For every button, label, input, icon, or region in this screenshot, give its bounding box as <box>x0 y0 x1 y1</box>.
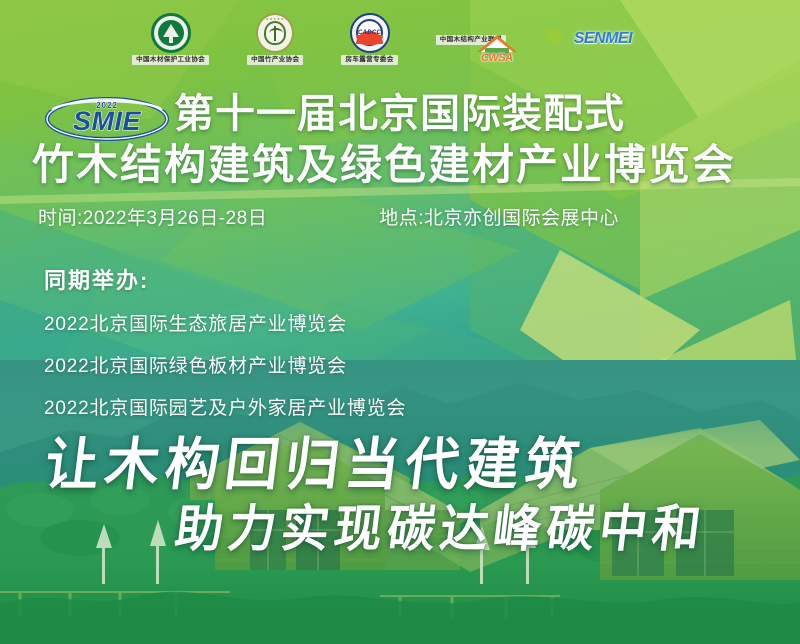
slogan-line-2: 助力实现碳达峰碳中和 <box>171 487 710 561</box>
headline-line-2: 竹木结构建筑及绿色建材产业博览会 <box>32 138 800 192</box>
sponsor-logo-cwsa[interactable]: CWSA 中国木结构产业联盟 <box>436 33 506 45</box>
concurrent-event-item: 2022北京国际绿色板材产业博览会 <box>44 351 564 378</box>
sponsor-caption: 房车露营专委会 <box>341 55 397 65</box>
bamboo-oval-icon: ★★★★★ <box>256 13 294 53</box>
cadcc-mark: CADCC <box>358 30 381 36</box>
pine-tree-circle-icon <box>151 13 191 53</box>
concurrent-event-item: 2022北京国际生态旅居产业博览会 <box>44 309 564 336</box>
expo-banner: 中国木材保护工业协会 ★★★★★ 中国竹产业协会 CADCC 房车露营专委会 C… <box>0 0 800 644</box>
concurrent-event-item: 2022北京国际园艺及户外家居产业博览会 <box>44 393 564 420</box>
senmei-mark: SENMEI <box>560 30 632 48</box>
concurrent-events: 同期举办: 2022北京国际生态旅居产业博览会 2022北京国际绿色板材产业博览… <box>44 263 564 435</box>
sponsor-logo-china-timber-association[interactable]: 中国木材保护工业协会 <box>132 13 209 65</box>
headline-line-1: 第十一届北京国际装配式 <box>174 88 800 140</box>
sponsor-logo-cadcc[interactable]: CADCC 房车露营专委会 <box>341 13 397 65</box>
event-venue: 地点:北京亦创国际会展中心 <box>379 203 619 230</box>
sponsor-logo-senmei[interactable]: SENMEI <box>544 24 648 54</box>
sponsor-logo-strip: 中国木材保护工业协会 ★★★★★ 中国竹产业协会 CADCC 房车露营专委会 C… <box>0 0 800 78</box>
sponsor-logo-bamboo-industry-association[interactable]: ★★★★★ 中国竹产业协会 <box>247 13 303 65</box>
sponsor-caption: 中国竹产业协会 <box>247 55 303 65</box>
cadcc-round-badge-icon: CADCC <box>350 13 390 53</box>
cwsa-mark: CWSA <box>471 52 523 64</box>
event-meta: 时间:2022年3月26日-28日 地点:北京亦创国际会展中心 <box>38 203 778 230</box>
sponsor-caption: 中国木材保护工业协会 <box>132 55 209 65</box>
leaf-wordmark-icon: SENMEI <box>544 24 648 54</box>
concurrent-events-heading: 同期举办: <box>44 263 564 295</box>
event-date: 时间:2022年3月26日-28日 <box>38 203 267 230</box>
headline: 第十一届北京国际装配式 竹木结构建筑及绿色建材产业博览会 <box>0 88 800 192</box>
